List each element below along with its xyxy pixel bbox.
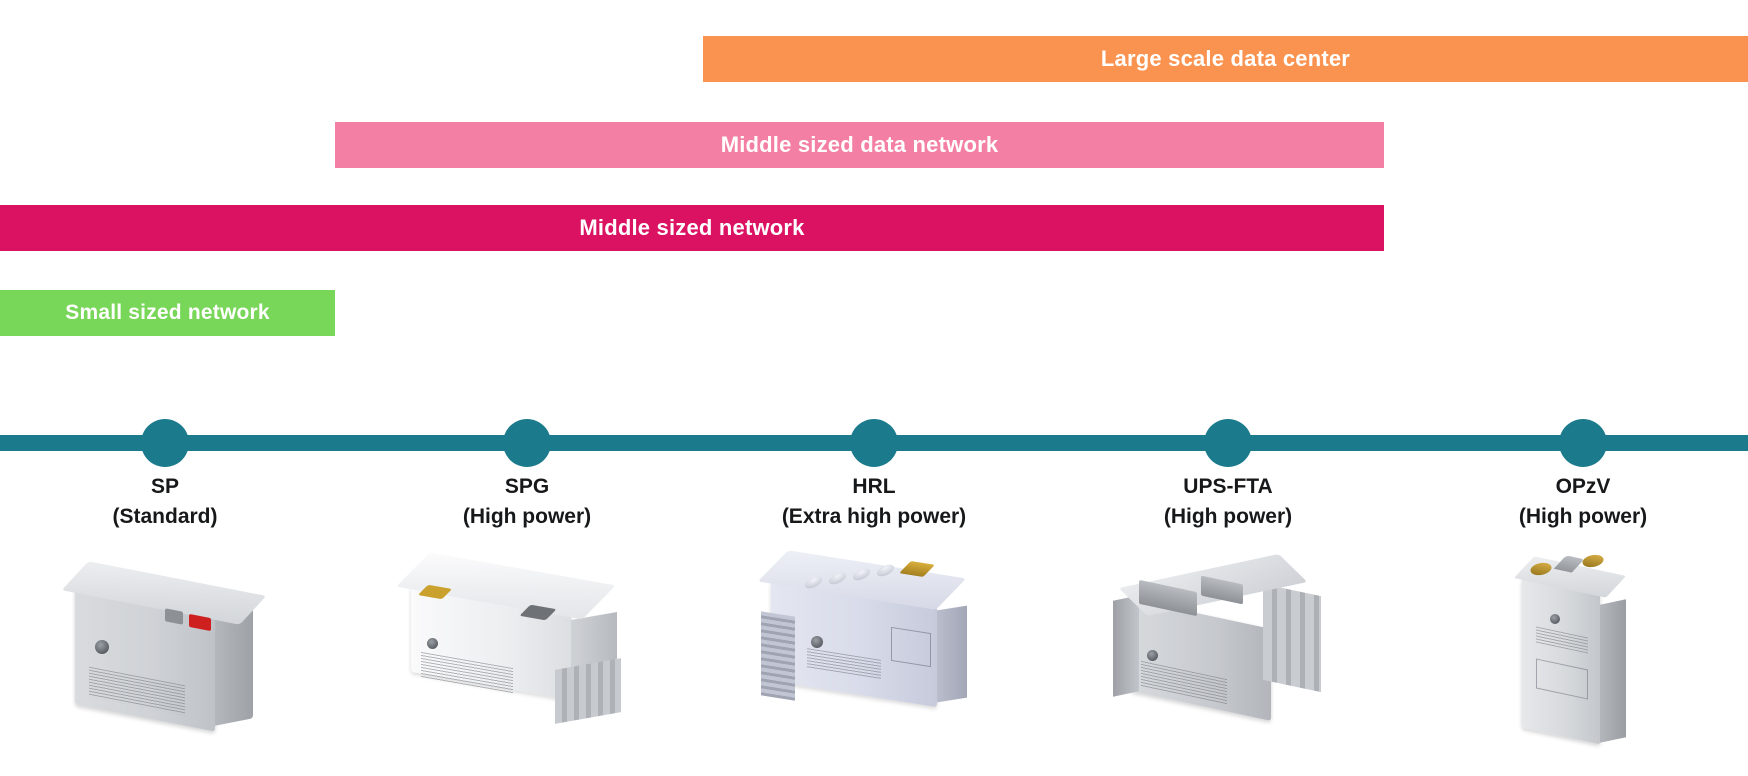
battery-brand-logo-icon bbox=[95, 640, 109, 654]
timeline-dot-spg[interactable] bbox=[503, 419, 551, 467]
segment-bar-label: Large scale data center bbox=[1101, 46, 1350, 72]
segment-bar-label: Middle sized network bbox=[579, 215, 804, 241]
battery-side-face bbox=[1113, 595, 1139, 697]
timeline-label-opzv: OPzV (High power) bbox=[1433, 472, 1733, 532]
node-name: HRL bbox=[724, 472, 1024, 502]
sp-battery-image bbox=[65, 568, 265, 748]
timeline-dot-opzv[interactable] bbox=[1559, 419, 1607, 467]
battery-body bbox=[1522, 578, 1600, 745]
battery-brand-logo-icon bbox=[1147, 650, 1158, 661]
segment-bar-large-scale-data-center: Large scale data center bbox=[703, 36, 1748, 82]
hrl-battery-image bbox=[755, 558, 985, 753]
ups-fta-battery-image bbox=[1113, 562, 1343, 752]
battery-side-fins bbox=[761, 611, 795, 700]
timeline-label-hrl: HRL (Extra high power) bbox=[724, 472, 1024, 532]
battery-warning-panel bbox=[891, 627, 931, 667]
node-subtitle: (Extra high power) bbox=[724, 502, 1024, 532]
battery-side-face bbox=[937, 606, 967, 703]
battery-side-face bbox=[215, 608, 253, 725]
battery-brand-logo-icon bbox=[1550, 614, 1560, 624]
node-subtitle: (High power) bbox=[1078, 502, 1378, 532]
battery-side-ribs bbox=[555, 658, 621, 724]
timeline-dot-ups-fta[interactable] bbox=[1204, 419, 1252, 467]
timeline-label-sp: SP (Standard) bbox=[15, 472, 315, 532]
spg-battery-image bbox=[405, 560, 635, 750]
segment-bar-label: Small sized network bbox=[65, 301, 270, 325]
timeline-dot-hrl[interactable] bbox=[850, 419, 898, 467]
node-subtitle: (Standard) bbox=[15, 502, 315, 532]
opzv-battery-image bbox=[1498, 556, 1668, 752]
battery-brand-logo-icon bbox=[427, 638, 438, 649]
battery-application-range-chart: Large scale data center Middle sized dat… bbox=[0, 0, 1748, 776]
battery-side-ribs bbox=[1263, 584, 1321, 692]
segment-bar-middle-sized-data-network: Middle sized data network bbox=[335, 122, 1384, 168]
battery-side-face bbox=[1600, 599, 1626, 743]
battery-brand-logo-icon bbox=[811, 636, 823, 648]
node-subtitle: (High power) bbox=[377, 502, 677, 532]
timeline-label-spg: SPG (High power) bbox=[377, 472, 677, 532]
node-name: OPzV bbox=[1433, 472, 1733, 502]
segment-bar-small-sized-network: Small sized network bbox=[0, 290, 335, 336]
node-name: UPS-FTA bbox=[1078, 472, 1378, 502]
timeline-label-ups-fta: UPS-FTA (High power) bbox=[1078, 472, 1378, 532]
timeline-dot-sp[interactable] bbox=[141, 419, 189, 467]
node-subtitle: (High power) bbox=[1433, 502, 1733, 532]
segment-bar-label: Middle sized data network bbox=[721, 132, 999, 158]
node-name: SPG bbox=[377, 472, 677, 502]
node-name: SP bbox=[15, 472, 315, 502]
segment-bar-middle-sized-network: Middle sized network bbox=[0, 205, 1384, 251]
